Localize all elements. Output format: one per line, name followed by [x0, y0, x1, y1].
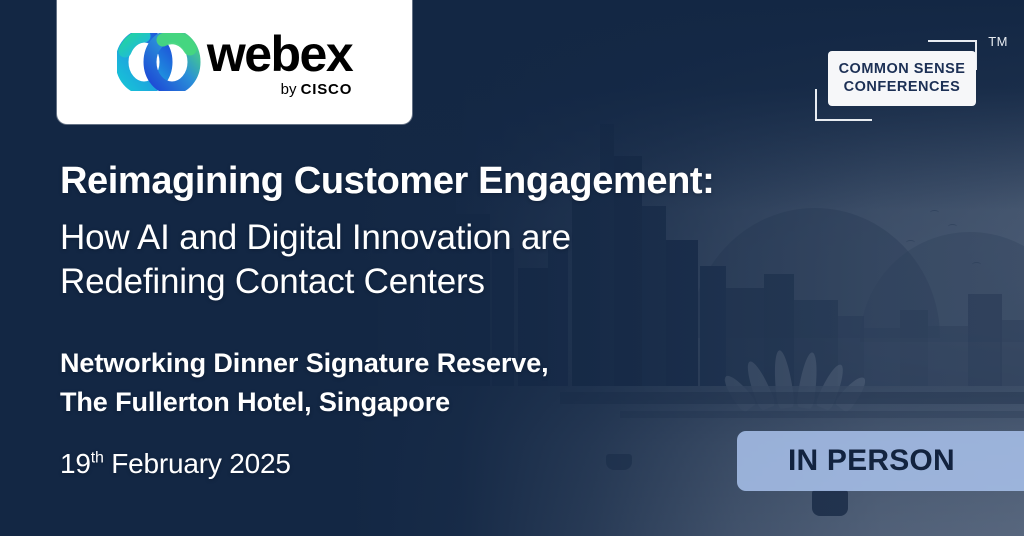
conference-logo-line1: COMMON SENSE — [839, 61, 966, 79]
event-headline: Reimagining Customer Engagement: — [60, 160, 714, 203]
event-banner: webex by CISCO TM COMMON SENSE CONFERENC… — [0, 0, 1024, 536]
subheadline-line2: Redefining Contact Centers — [60, 260, 571, 304]
webex-byline: by CISCO — [281, 82, 353, 97]
webex-logo-card: webex by CISCO — [57, 0, 412, 124]
event-subheadline: How AI and Digital Innovation are Redefi… — [60, 216, 571, 305]
date-ordinal-suffix: th — [91, 450, 104, 467]
byline-prefix: by — [281, 81, 297, 98]
webex-wordmark: webex — [207, 29, 352, 79]
conference-logo-line2: CONFERENCES — [844, 79, 961, 97]
subheadline-line1: How AI and Digital Innovation are — [60, 216, 571, 260]
event-date: 19th February 2025 — [60, 448, 291, 480]
trademark-symbol: TM — [988, 34, 1008, 49]
common-sense-conferences-logo: TM COMMON SENSE CONFERENCES — [815, 29, 1010, 139]
venue-line2: The Fullerton Hotel, Singapore — [60, 383, 549, 422]
byline-brand: CISCO — [301, 81, 353, 98]
date-day: 19 — [60, 448, 91, 479]
conference-logo-box: COMMON SENSE CONFERENCES — [828, 51, 976, 106]
webex-rings-icon — [117, 33, 201, 91]
date-month-year: February 2025 — [104, 448, 291, 479]
in-person-badge: IN PERSON — [737, 431, 1024, 491]
event-venue: Networking Dinner Signature Reserve, The… — [60, 344, 549, 423]
in-person-badge-label: IN PERSON — [788, 444, 955, 478]
venue-line1: Networking Dinner Signature Reserve, — [60, 344, 549, 383]
